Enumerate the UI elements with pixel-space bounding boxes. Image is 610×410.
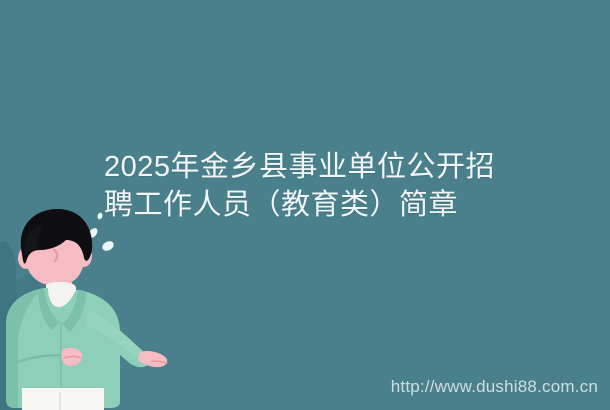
- trousers: [22, 388, 104, 410]
- banner-title: 2025年金乡县事业单位公开招 聘工作人员（教育类）简章: [104, 148, 524, 224]
- site-url-watermark: http://www.dushi88.com.cn: [391, 377, 598, 397]
- title-line-1: 2025年金乡县事业单位公开招: [104, 148, 524, 186]
- title-line-2: 聘工作人员（教育类）简章: [104, 186, 524, 224]
- promo-banner-card: 2025年金乡县事业单位公开招 聘工作人员（教育类）简章 http://www.…: [0, 0, 610, 410]
- person-pointing-illustration: [0, 206, 200, 410]
